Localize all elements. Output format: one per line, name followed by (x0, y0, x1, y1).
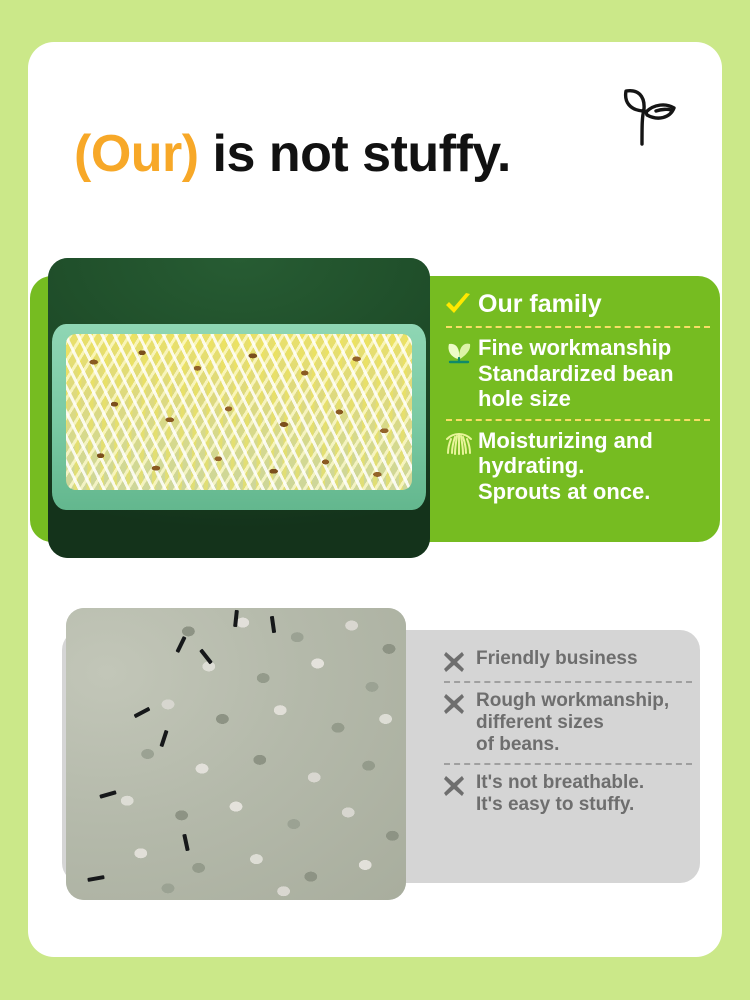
sprout-icon (606, 82, 686, 148)
good-list-item-1-label: Our family (478, 290, 602, 319)
cross-icon (442, 690, 476, 716)
bad-list-item-3: It's not breathable. It's easy to stuffy… (442, 772, 692, 816)
good-list-separator-2 (446, 419, 710, 421)
page-title-rest: is not stuffy. (199, 125, 511, 183)
bean-sprouts (66, 334, 412, 490)
grey-beans (66, 608, 406, 900)
sprouting-tray (52, 324, 426, 510)
check-icon (444, 290, 478, 318)
page-title: (Our) is not stuffy. (74, 128, 511, 180)
water-spray-icon (444, 428, 478, 458)
sprout-icon (444, 335, 478, 365)
good-list-item-3: Moisturizing and hydrating. Sprouts at o… (444, 428, 710, 505)
page-title-highlight: (Our) (74, 125, 199, 183)
bad-list-item-1: Friendly business (442, 648, 692, 674)
good-list-item-2: Fine workmanship Standardized bean hole … (444, 335, 710, 412)
good-product-image (48, 258, 430, 558)
bad-product-image (66, 608, 406, 900)
bad-list-item-1-label: Friendly business (476, 648, 638, 670)
bad-list-item-3-label: It's not breathable. It's easy to stuffy… (476, 772, 644, 816)
good-feature-list: Our family Fine workmanship Standardized… (444, 290, 710, 504)
bad-list-item-2: Rough workmanship, different sizes of be… (442, 690, 692, 756)
bad-list-item-2-label: Rough workmanship, different sizes of be… (476, 690, 669, 756)
bad-feature-list: Friendly business Rough workmanship, dif… (442, 648, 692, 816)
good-list-item-1: Our family (444, 290, 710, 319)
bad-list-separator-1 (444, 681, 692, 683)
bad-list-separator-2 (444, 763, 692, 765)
good-list-separator-1 (446, 326, 710, 328)
cross-icon (442, 648, 476, 674)
good-list-item-3-label: Moisturizing and hydrating. Sprouts at o… (478, 428, 653, 505)
poster-page: (Our) is not stuffy. Our family (0, 0, 750, 1000)
cross-icon (442, 772, 476, 798)
tray-inner (66, 334, 412, 490)
good-list-item-2-label: Fine workmanship Standardized bean hole … (478, 335, 674, 412)
